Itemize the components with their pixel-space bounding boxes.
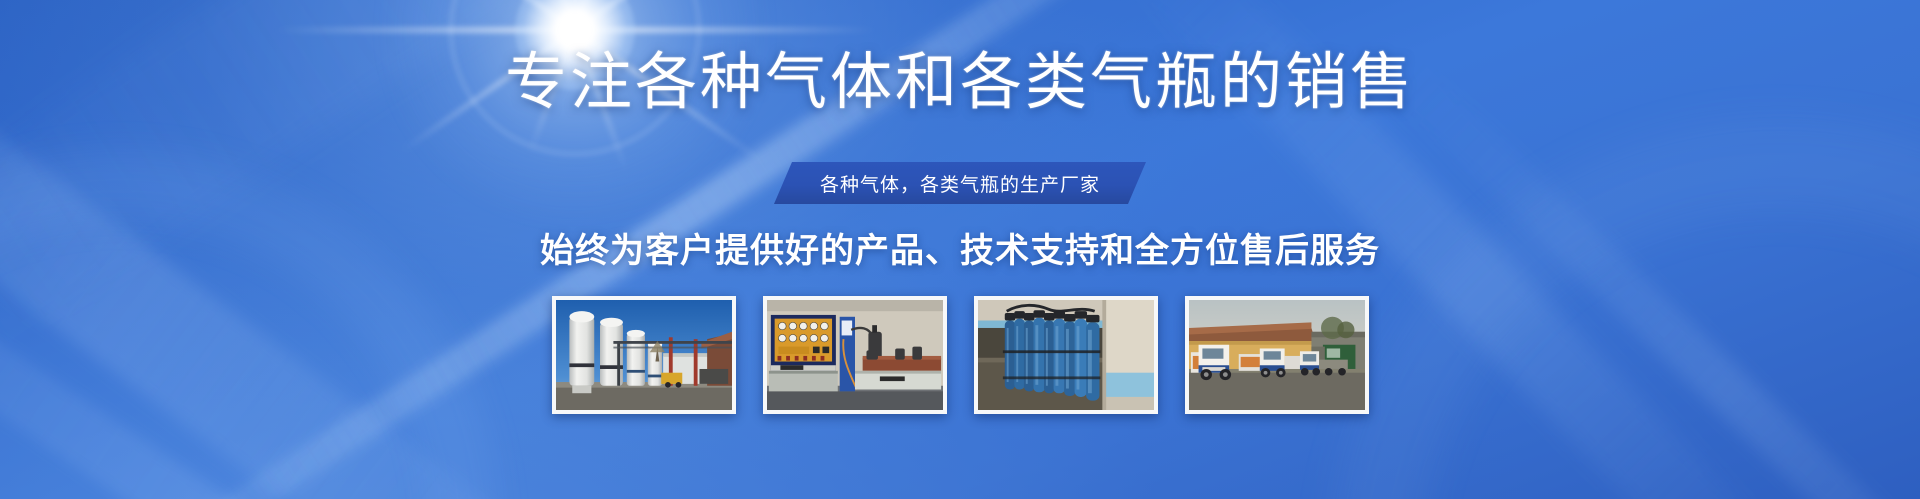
ribbon-left-tail-icon [748, 162, 774, 204]
tagline-ribbon-wrapper: 各种气体，各类气瓶的生产厂家 [0, 162, 1920, 204]
gallery-photo-test-equipment[interactable] [763, 296, 947, 414]
ribbon-right-tail-icon [1146, 162, 1172, 204]
delivery-trucks-image [1189, 300, 1365, 410]
banner-content: 专注各种气体和各类气瓶的销售 各种气体，各类气瓶的生产厂家 始终为客户提供好的产… [0, 0, 1920, 499]
gallery-photo-storage-tanks[interactable] [552, 296, 736, 414]
gas-cylinders-image [978, 300, 1154, 410]
photo-gallery [0, 296, 1920, 414]
page-title: 专注各种气体和各类气瓶的销售 [0, 50, 1920, 115]
storage-tanks-image [556, 300, 732, 410]
gallery-photo-gas-cylinders[interactable] [974, 296, 1158, 414]
gallery-photo-delivery-trucks[interactable] [1185, 296, 1369, 414]
banner-subtitle: 始终为客户提供好的产品、技术支持和全方位售后服务 [0, 223, 1920, 272]
tagline-ribbon-text: 各种气体，各类气瓶的生产厂家 [820, 170, 1100, 197]
test-equipment-image [767, 300, 943, 410]
tagline-ribbon: 各种气体，各类气瓶的生产厂家 [774, 162, 1146, 204]
hero-banner: 专注各种气体和各类气瓶的销售 各种气体，各类气瓶的生产厂家 始终为客户提供好的产… [0, 0, 1920, 499]
